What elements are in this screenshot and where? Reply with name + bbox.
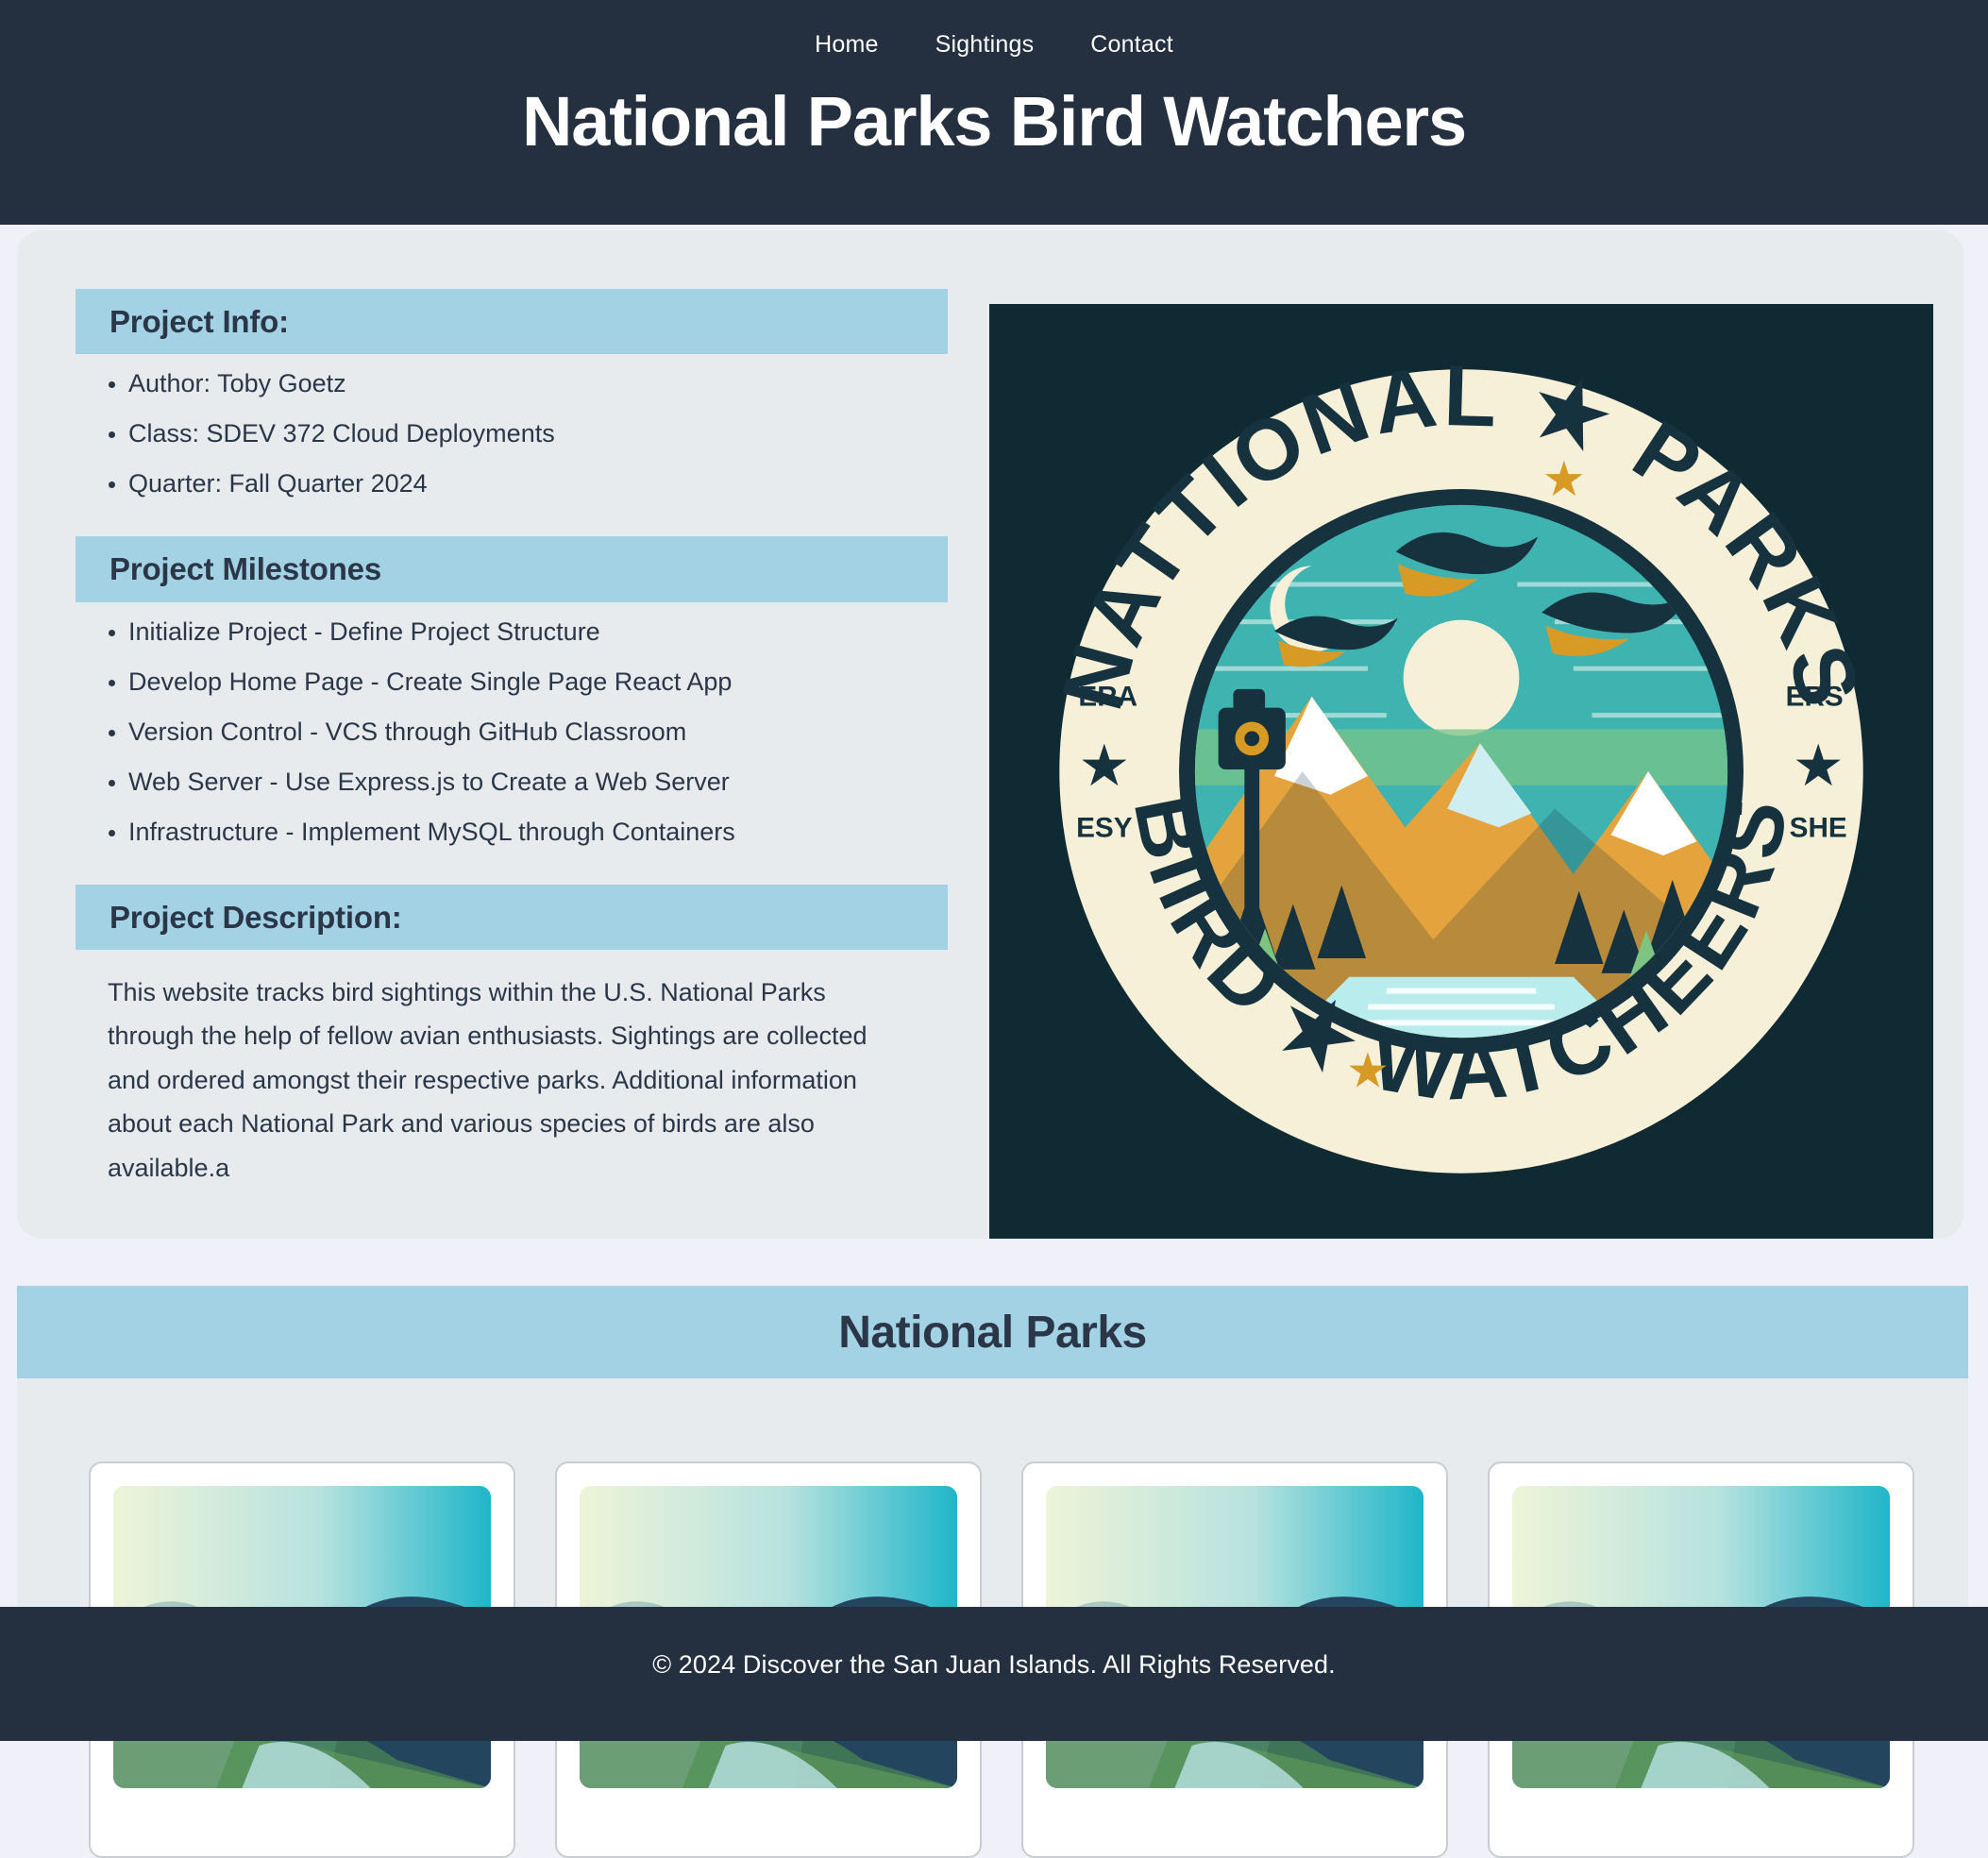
svg-text:SHE: SHE: [1790, 812, 1847, 843]
svg-text:ERS: ERS: [1786, 682, 1844, 713]
list-item: Version Control - VCS through GitHub Cla…: [128, 719, 948, 745]
list-item: Infrastructure - Implement MySQL through…: [128, 819, 948, 845]
list-item: Author: Toby Goetz: [128, 371, 948, 397]
nav-link-sightings[interactable]: Sightings: [935, 33, 1035, 57]
nav-link-home[interactable]: Home: [815, 33, 879, 57]
project-details-column: Project Info: Author: Toby Goetz Class: …: [76, 272, 948, 1197]
copyright-text: © 2024 Discover the San Juan Islands. Al…: [652, 1650, 1336, 1680]
list-item: Web Server - Use Express.js to Create a …: [128, 769, 948, 795]
project-description-text: This website tracks bird sightings withi…: [76, 971, 906, 1190]
svg-text:★: ★: [1542, 451, 1586, 506]
project-overview-card: Project Info: Author: Toby Goetz Class: …: [17, 230, 1963, 1239]
project-info-list: Author: Toby Goetz Class: SDEV 372 Cloud…: [76, 371, 948, 497]
svg-text:ERA: ERA: [1078, 682, 1137, 713]
nav-link-contact[interactable]: Contact: [1090, 33, 1173, 57]
bird-watchers-badge-icon: NATTIONAL ★ PARKS BIIRD ★ WATCHEERS ERA …: [989, 304, 1933, 1239]
project-milestones-list: Initialize Project - Define Project Stru…: [76, 619, 948, 845]
national-parks-heading-bar: National Parks: [17, 1286, 1968, 1378]
site-footer: © 2024 Discover the San Juan Islands. Al…: [0, 1607, 1988, 1741]
svg-text:★: ★: [1078, 734, 1130, 799]
project-description-heading-bar: Project Description:: [76, 885, 948, 950]
project-info-heading-bar: Project Info:: [76, 289, 948, 354]
main-navigation: Home Sightings Contact: [0, 23, 1988, 66]
page-title: National Parks Bird Watchers: [0, 83, 1988, 160]
list-item: Develop Home Page - Create Single Page R…: [128, 669, 948, 695]
list-item: Quarter: Fall Quarter 2024: [128, 471, 948, 497]
svg-text:★: ★: [1346, 1043, 1390, 1098]
logo-column: NATTIONAL ★ PARKS BIIRD ★ WATCHEERS ERA …: [989, 272, 1939, 1197]
project-info-heading: Project Info:: [110, 302, 914, 341]
list-item: Initialize Project - Define Project Stru…: [128, 619, 948, 645]
project-milestones-heading-bar: Project Milestones: [76, 536, 948, 601]
svg-text:ESY: ESY: [1076, 812, 1133, 843]
project-milestones-heading: Project Milestones: [110, 549, 914, 588]
site-header: Home Sightings Contact National Parks Bi…: [0, 0, 1988, 225]
svg-text:★: ★: [1793, 734, 1845, 799]
list-item: Class: SDEV 372 Cloud Deployments: [128, 421, 948, 447]
national-parks-heading: National Parks: [838, 1307, 1146, 1359]
project-description-heading: Project Description:: [110, 898, 914, 937]
